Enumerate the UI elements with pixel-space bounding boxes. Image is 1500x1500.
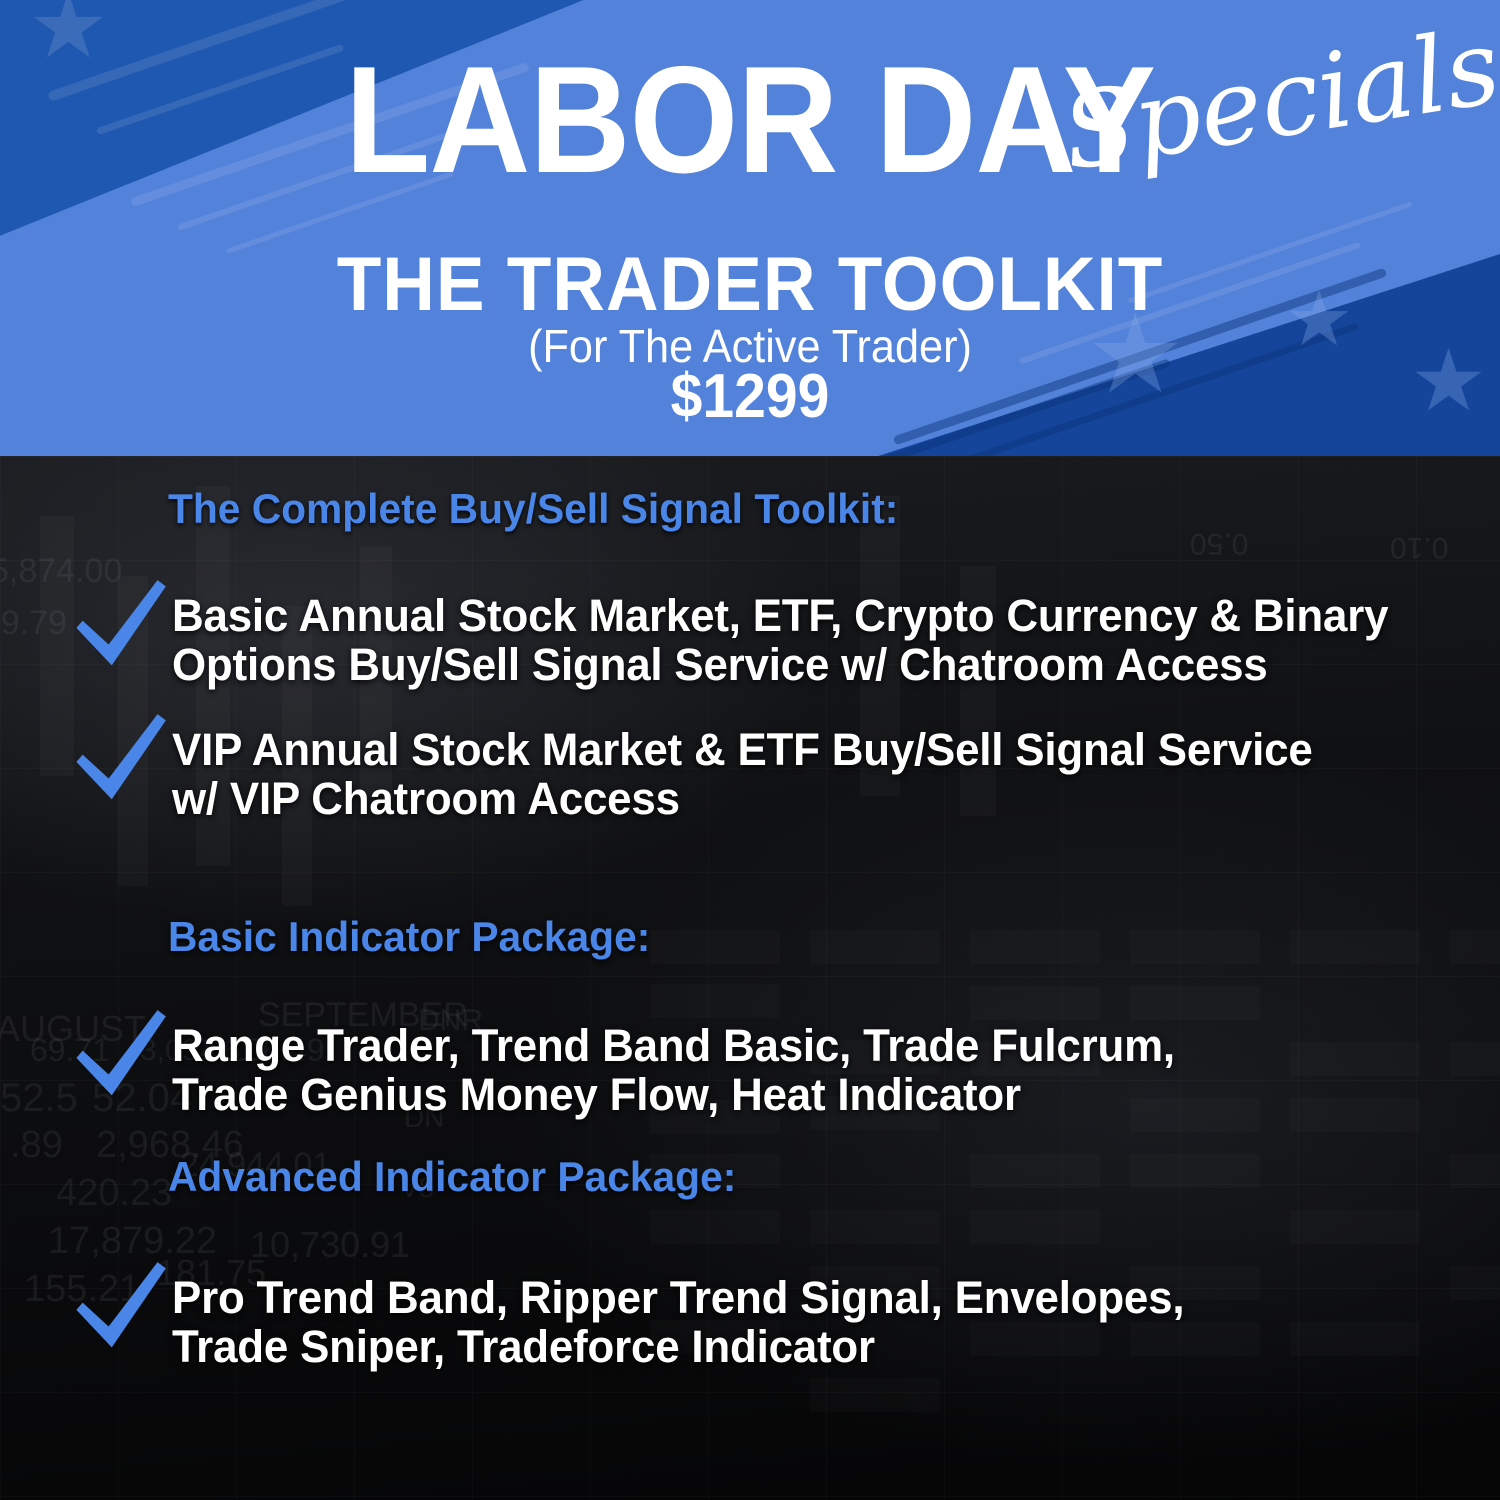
list-item-text: VIP Annual Stock Market & ETF Buy/Sell S… [172, 726, 1313, 823]
check-icon [64, 1008, 172, 1112]
section-heading-basic-indicator-package: Basic Indicator Package: [168, 916, 650, 958]
list-item: Pro Trend Band, Ripper Trend Signal, Env… [110, 1274, 1450, 1371]
list-item: VIP Annual Stock Market & ETF Buy/Sell S… [110, 726, 1450, 823]
product-title: THE TRADER TOOLKIT [30, 247, 1470, 323]
list-item: Range Trader, Trend Band Basic, Trade Fu… [110, 1022, 1450, 1119]
section-heading-complete-toolkit: The Complete Buy/Sell Signal Toolkit: [168, 488, 898, 530]
list-item-line-1: Range Trader, Trend Band Basic, Trade Fu… [172, 1020, 1175, 1071]
list-item-line-2: Trade Genius Money Flow, Heat Indicator [172, 1069, 1021, 1120]
content-area: 5,874.00 69.79 69.71 4,106.49 0.50 0.10 … [0, 456, 1500, 1500]
list-item: Basic Annual Stock Market, ETF, Crypto C… [110, 592, 1450, 689]
check-icon [64, 712, 172, 816]
list-item-line-2: Options Buy/Sell Signal Service w/ Chatr… [172, 639, 1268, 690]
list-item-line-1: Pro Trend Band, Ripper Trend Signal, Env… [172, 1272, 1184, 1323]
list-item-line-2: Trade Sniper, Tradeforce Indicator [172, 1321, 875, 1372]
promo-poster: ★ ★ ★ ★ LABOR DAY Specials THE TRADER TO… [0, 0, 1500, 1500]
list-item-text: Pro Trend Band, Ripper Trend Signal, Env… [172, 1274, 1184, 1371]
list-item-text: Range Trader, Trend Band Basic, Trade Fu… [172, 1022, 1175, 1119]
check-icon [64, 1260, 172, 1364]
list-item-line-1: VIP Annual Stock Market & ETF Buy/Sell S… [172, 724, 1313, 775]
header-banner: ★ ★ ★ ★ LABOR DAY Specials THE TRADER TO… [0, 0, 1500, 456]
list-item-line-1: Basic Annual Stock Market, ETF, Crypto C… [172, 590, 1388, 641]
price-label: $1299 [60, 366, 1440, 428]
list-item-line-2: w/ VIP Chatroom Access [172, 773, 680, 824]
list-item-text: Basic Annual Stock Market, ETF, Crypto C… [172, 592, 1388, 689]
section-heading-advanced-indicator-package: Advanced Indicator Package: [168, 1156, 736, 1198]
check-icon [64, 578, 172, 682]
